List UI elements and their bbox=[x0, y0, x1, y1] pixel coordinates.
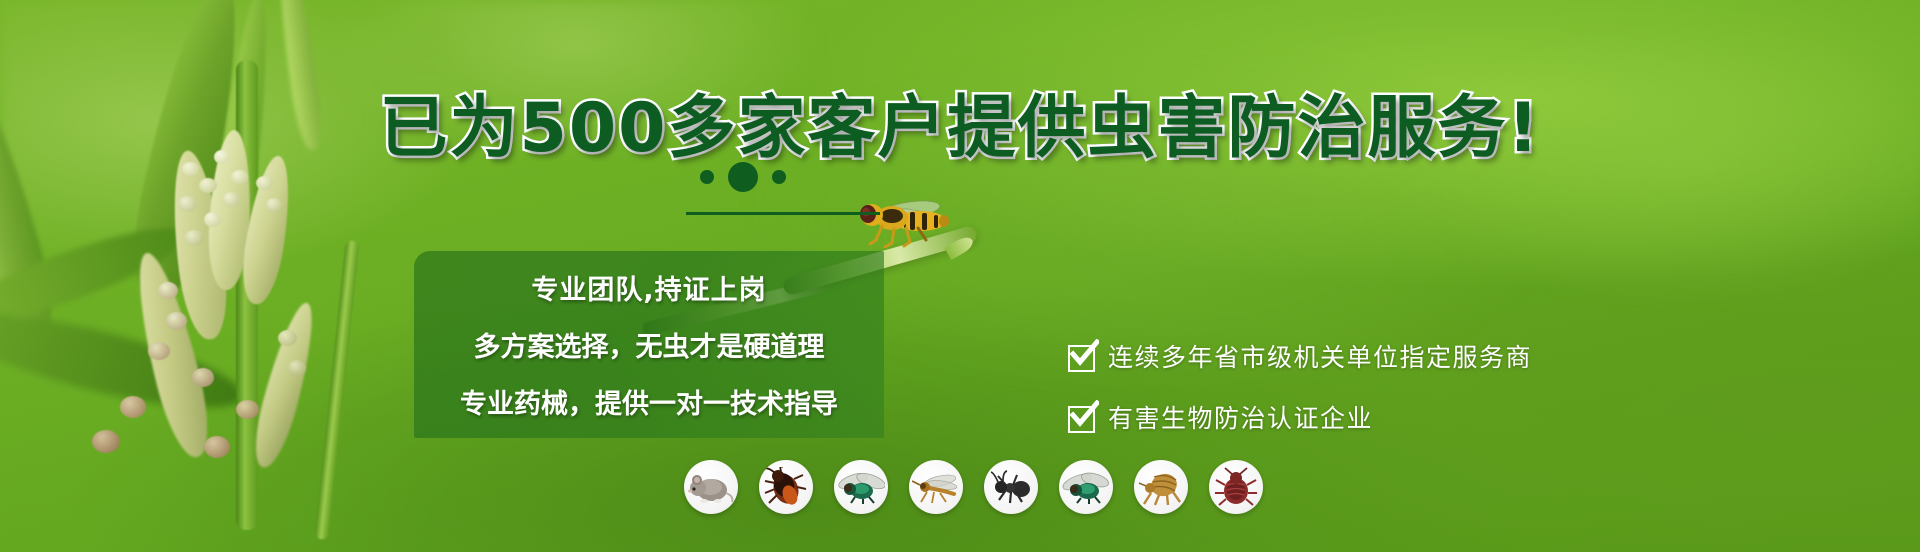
flower-bud bbox=[178, 196, 197, 212]
ant-icon[interactable] bbox=[984, 460, 1038, 514]
banner-headline-text: 已为500多家客户提供虫害防治服务! bbox=[380, 89, 1541, 168]
flower-bud bbox=[222, 192, 240, 207]
banner-headline: 已为500多家客户提供虫害防治服务! bbox=[0, 72, 1920, 171]
feature-box-content: 专业团队,持证上岗 多方案选择，无虫才是硬道理 专业药械，提供一对一技术指导 bbox=[414, 251, 884, 438]
flower-bud bbox=[148, 342, 170, 360]
hoverfly bbox=[848, 196, 956, 248]
flower-bud bbox=[92, 430, 120, 453]
divider-dot-large-icon bbox=[728, 162, 758, 192]
flea-icon[interactable] bbox=[1134, 460, 1188, 514]
flower-bud bbox=[192, 368, 214, 387]
flower-bud bbox=[256, 176, 273, 190]
mouse-icon[interactable] bbox=[684, 460, 738, 514]
flower-bud bbox=[236, 400, 259, 419]
bedbug-icon[interactable] bbox=[1209, 460, 1263, 514]
checkbox-checked-icon bbox=[1068, 404, 1095, 431]
divider-dot-small-icon bbox=[772, 170, 786, 184]
checklist-label: 连续多年省市级机关单位指定服务商 bbox=[1108, 338, 1532, 374]
feature-line: 多方案选择，无虫才是硬道理 bbox=[474, 325, 825, 364]
flower-bud bbox=[231, 170, 248, 184]
flower-bud bbox=[199, 178, 217, 193]
flower-bud bbox=[166, 312, 187, 330]
flower-bud bbox=[288, 360, 306, 376]
checklist-label: 有害生物防治认证企业 bbox=[1108, 399, 1373, 435]
divider-rule bbox=[686, 212, 880, 215]
pest-control-promo-banner: 已为500多家客户提供虫害防治服务! 专业团队,持证上岗 多方案选择，无虫才是硬… bbox=[0, 0, 1920, 552]
flower-bud bbox=[158, 282, 178, 299]
flower-bud bbox=[184, 230, 204, 246]
fly-icon[interactable] bbox=[1059, 460, 1113, 514]
flower-bud bbox=[204, 212, 221, 227]
checkbox-checked-icon bbox=[1068, 343, 1095, 370]
flower-bud bbox=[266, 198, 282, 212]
flower-bud bbox=[278, 330, 297, 346]
pest-icon-strip bbox=[684, 460, 1263, 514]
flower-bud bbox=[204, 436, 230, 458]
credential-checklist: 连续多年省市级机关单位指定服务商 有害生物防治认证企业 bbox=[1068, 338, 1532, 435]
cockroach-icon[interactable] bbox=[759, 460, 813, 514]
flower-bud bbox=[120, 396, 146, 418]
fly-icon[interactable] bbox=[834, 460, 888, 514]
feature-line: 专业团队,持证上岗 bbox=[531, 268, 766, 307]
divider-dots bbox=[700, 162, 786, 192]
list-item: 有害生物防治认证企业 bbox=[1068, 399, 1532, 435]
feature-line: 专业药械，提供一对一技术指导 bbox=[460, 382, 838, 421]
list-item: 连续多年省市级机关单位指定服务商 bbox=[1068, 338, 1532, 374]
divider-dot-small-icon bbox=[700, 170, 714, 184]
mosquito-icon[interactable] bbox=[909, 460, 963, 514]
